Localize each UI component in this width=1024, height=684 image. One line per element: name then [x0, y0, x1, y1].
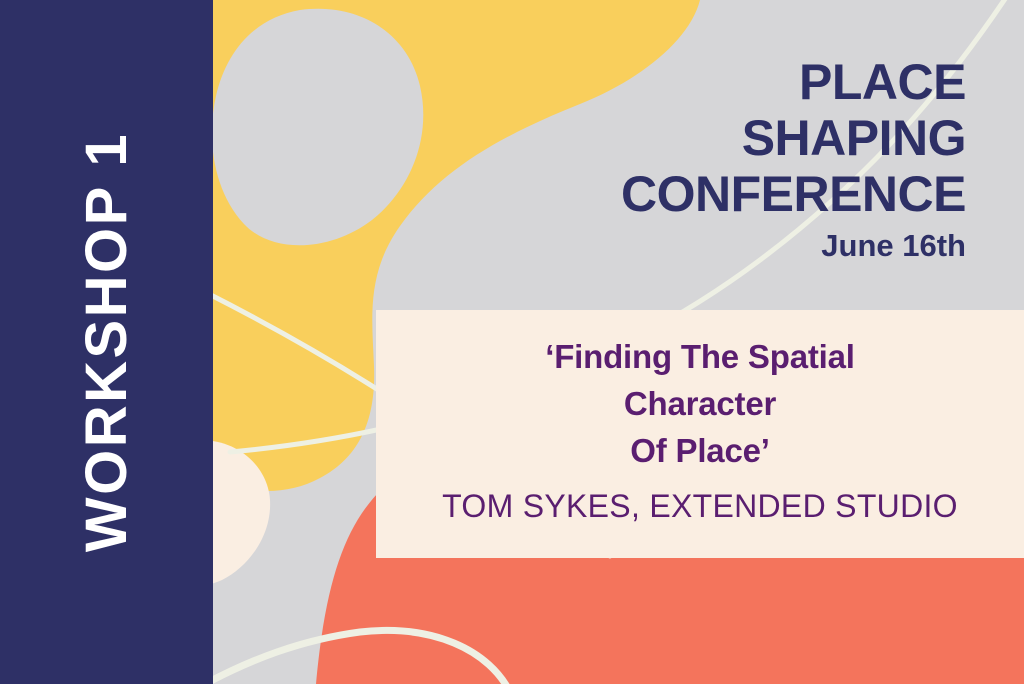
poster-canvas: WORKSHOP 1 PLACE SHAPING CONFERENCE June… [0, 0, 1024, 684]
event-date: June 16th [821, 228, 966, 264]
conference-headline: PLACE SHAPING CONFERENCE [621, 54, 966, 222]
talk-title-line-2: Character [396, 381, 1004, 428]
speaker-name: TOM SYKES, EXTENDED STUDIO [396, 489, 1004, 524]
talk-title-line-3: Of Place’ [396, 428, 1004, 475]
sidebar-workshop-banner: WORKSHOP 1 [0, 0, 213, 684]
talk-title-line-1: ‘Finding The Spatial [396, 334, 1004, 381]
headline-line-3: CONFERENCE [621, 166, 966, 222]
talk-title: ‘Finding The Spatial Character Of Place’ [396, 334, 1004, 475]
headline-line-2: SHAPING [621, 110, 966, 166]
headline-line-1: PLACE [621, 54, 966, 110]
sidebar-workshop-label: WORKSHOP 1 [78, 132, 136, 552]
talk-info-card: ‘Finding The Spatial Character Of Place’… [376, 310, 1024, 558]
